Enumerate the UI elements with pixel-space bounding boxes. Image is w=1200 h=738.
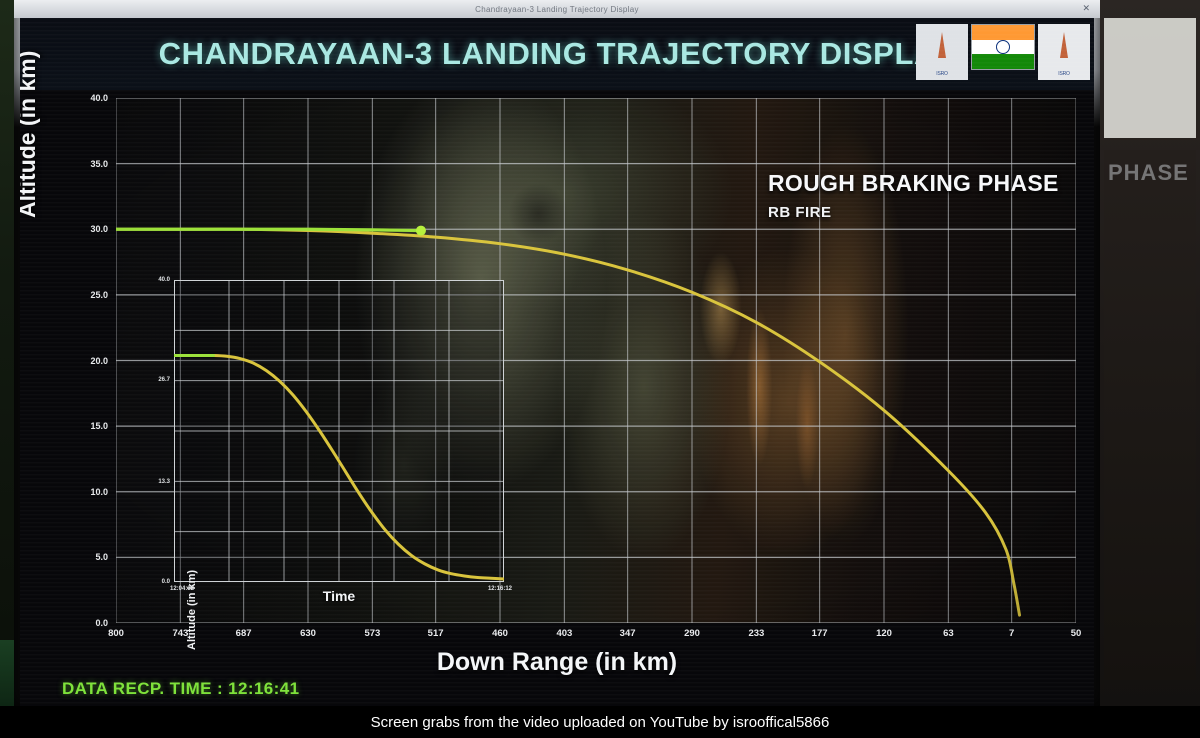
y-tick-4: 20.0 bbox=[70, 356, 108, 366]
inset-chart-plot bbox=[174, 280, 504, 582]
inset-y-tick-3: 0.0 bbox=[144, 579, 170, 585]
image-caption-text: Screen grabs from the video uploaded on … bbox=[371, 714, 830, 731]
x-tick-12: 120 bbox=[864, 628, 904, 639]
y-tick-2: 30.0 bbox=[70, 224, 108, 234]
y-tick-0: 40.0 bbox=[70, 93, 108, 103]
x-tick-8: 347 bbox=[608, 628, 648, 639]
branding-logos: ISRO ISRO bbox=[916, 24, 1090, 80]
flag-stripe-saffron bbox=[972, 25, 1034, 40]
x-tick-9: 290 bbox=[672, 628, 712, 639]
y-tick-1: 35.0 bbox=[70, 159, 108, 169]
inset-y-tick-2: 13.3 bbox=[144, 479, 170, 485]
x-tick-4: 573 bbox=[352, 628, 392, 639]
secondary-display-body bbox=[1104, 150, 1196, 680]
x-axis-title: Down Range (in km) bbox=[20, 648, 1094, 677]
phase-annotation: ROUGH BRAKING PHASE bbox=[768, 170, 1059, 197]
agency-logo-left-caption: ISRO bbox=[916, 71, 968, 77]
x-tick-2: 687 bbox=[224, 628, 264, 639]
telemetry-current-position-marker bbox=[416, 226, 426, 236]
inset-y-tick-0: 40.0 bbox=[144, 277, 170, 283]
indian-flag-icon bbox=[971, 24, 1035, 70]
inset-y-axis-title: Altitude (in km) bbox=[186, 570, 198, 650]
flag-stripe-white bbox=[972, 40, 1034, 55]
inset-time-start: 12:04:32 bbox=[170, 586, 194, 592]
window-titlebar: Chandrayaan-3 Landing Trajectory Display… bbox=[14, 0, 1100, 18]
x-tick-15: 50 bbox=[1056, 628, 1094, 639]
x-tick-5: 517 bbox=[416, 628, 456, 639]
x-tick-13: 63 bbox=[928, 628, 968, 639]
y-tick-3: 25.0 bbox=[70, 290, 108, 300]
rocket-icon bbox=[938, 32, 946, 58]
rocket-icon-2 bbox=[1060, 32, 1068, 58]
agency-logo-right: ISRO bbox=[1038, 24, 1090, 80]
x-tick-10: 233 bbox=[736, 628, 776, 639]
x-tick-6: 460 bbox=[480, 628, 520, 639]
y-tick-5: 15.0 bbox=[70, 421, 108, 431]
y-tick-8: 0.0 bbox=[70, 618, 108, 628]
rb-fire-annotation: RB FIRE bbox=[768, 204, 832, 221]
close-icon[interactable]: ✕ bbox=[1082, 3, 1090, 14]
inset-y-tick-1: 26.7 bbox=[144, 377, 170, 383]
x-tick-14: 7 bbox=[992, 628, 1032, 639]
image-caption-bar: Screen grabs from the video uploaded on … bbox=[0, 706, 1200, 738]
application-screen: CHANDRAYAAN-3 LANDING TRAJECTORY DISPLAY… bbox=[20, 18, 1094, 706]
flag-stripe-green bbox=[972, 54, 1034, 69]
x-tick-3: 630 bbox=[288, 628, 328, 639]
agency-logo-left: ISRO bbox=[916, 24, 968, 80]
agency-logo-right-caption: ISRO bbox=[1038, 71, 1090, 77]
data-reception-time: DATA RECP. TIME : 12:16:41 bbox=[62, 679, 299, 699]
y-axis-title: Altitude (in km) bbox=[20, 51, 41, 218]
inset-x-axis-title: Time bbox=[174, 588, 504, 604]
series-path-telemetry bbox=[116, 229, 421, 230]
y-tick-6: 10.0 bbox=[70, 487, 108, 497]
x-tick-0: 800 bbox=[96, 628, 136, 639]
screenshot-root: PHASE REFERENCE TELEMETRY Chandrayaan-3 … bbox=[0, 0, 1200, 738]
x-tick-11: 177 bbox=[800, 628, 840, 639]
secondary-display-phase-text: PHASE bbox=[1108, 160, 1198, 194]
secondary-display-top bbox=[1104, 18, 1196, 138]
inset-time-end: 12:16:12 bbox=[488, 586, 512, 592]
inset-chart: Altitude (in km) Time 40.026.713.30.0 12… bbox=[174, 280, 504, 582]
x-tick-7: 403 bbox=[544, 628, 584, 639]
window-title: Chandrayaan-3 Landing Trajectory Display bbox=[475, 5, 639, 14]
ashoka-chakra-icon bbox=[996, 40, 1010, 54]
y-tick-7: 5.0 bbox=[70, 552, 108, 562]
